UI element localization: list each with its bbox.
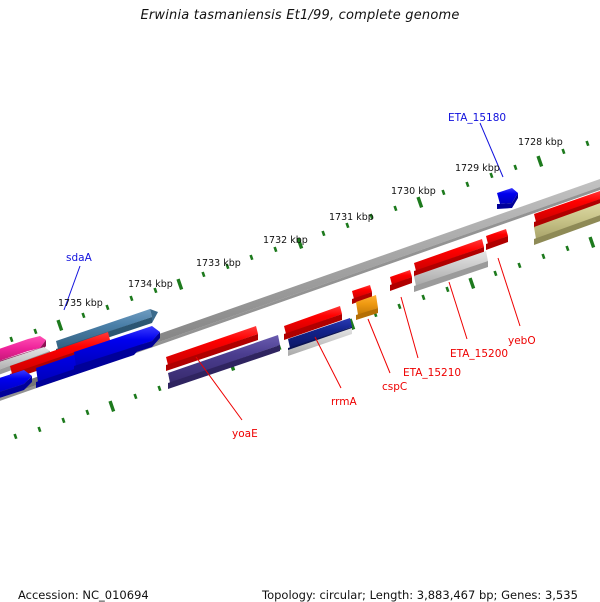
gene-label-cspc[interactable]: cspC <box>382 381 407 393</box>
gene-feature[interactable] <box>390 270 412 291</box>
ruler-tick-label: 1731 kbp <box>329 212 374 223</box>
gene-label-yebo[interactable]: yebO <box>508 335 536 347</box>
gene-label-eta_15210[interactable]: ETA_15210 <box>403 367 461 379</box>
ruler-tick-label: 1732 kbp <box>263 235 308 246</box>
ruler-tick-label: 1735 kbp <box>58 298 103 309</box>
leader-line <box>498 258 520 326</box>
gene-label-rrma[interactable]: rrmA <box>331 396 357 408</box>
ruler-tick-label: 1730 kbp <box>391 186 436 197</box>
gene-label-eta_15180[interactable]: ETA_15180 <box>448 112 506 124</box>
leader-line <box>401 297 418 358</box>
ruler-tick-label: 1728 kbp <box>518 137 563 148</box>
gene-feature[interactable] <box>486 229 508 250</box>
ruler-tick-label: 1729 kbp <box>455 163 500 174</box>
gene-feature-eta15180[interactable] <box>497 188 518 209</box>
gene-label-eta_15200[interactable]: ETA_15200 <box>450 348 508 360</box>
leader-line <box>449 282 467 339</box>
ruler-tick-label: 1733 kbp <box>196 258 241 269</box>
leader-line <box>368 319 390 373</box>
gene-label-sdaa[interactable]: sdaA <box>66 252 92 264</box>
ruler-tick-label: 1734 kbp <box>128 279 173 290</box>
gene-label-yoae[interactable]: yoaE <box>232 428 258 440</box>
leader-line <box>315 337 341 388</box>
